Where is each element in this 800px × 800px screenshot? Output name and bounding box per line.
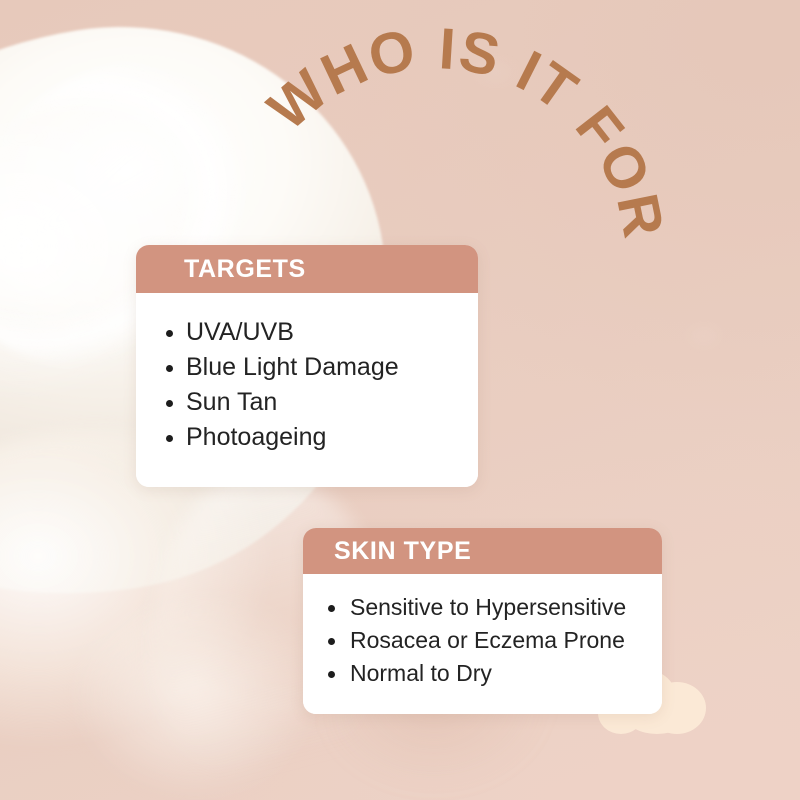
list-item: Rosacea or Eczema Prone bbox=[303, 624, 662, 657]
bullet-dot-icon bbox=[328, 671, 335, 678]
bullet-dot-icon bbox=[166, 400, 173, 407]
targets-list: UVA/UVB Blue Light Damage Sun Tan Photoa… bbox=[136, 315, 478, 455]
card-skin-type-title: SKIN TYPE bbox=[303, 528, 662, 574]
list-item: Blue Light Damage bbox=[136, 350, 478, 385]
bullet-dot-icon bbox=[166, 330, 173, 337]
card-targets-body: UVA/UVB Blue Light Damage Sun Tan Photoa… bbox=[136, 293, 478, 487]
list-item-label: UVA/UVB bbox=[186, 318, 294, 346]
bullet-dot-icon bbox=[166, 365, 173, 372]
list-item: Sensitive to Hypersensitive bbox=[303, 591, 662, 624]
card-targets-title: TARGETS bbox=[136, 245, 478, 293]
list-item: UVA/UVB bbox=[136, 315, 478, 350]
list-item-label: Rosacea or Eczema Prone bbox=[350, 627, 625, 653]
card-skin-type: SKIN TYPE Sensitive to Hypersensitive Ro… bbox=[303, 528, 662, 714]
card-skin-type-body: Sensitive to Hypersensitive Rosacea or E… bbox=[303, 574, 662, 714]
list-item: Photoageing bbox=[136, 420, 478, 455]
list-item: Normal to Dry bbox=[303, 657, 662, 690]
list-item-label: Sensitive to Hypersensitive bbox=[350, 594, 626, 620]
list-item-label: Photoageing bbox=[186, 423, 326, 451]
list-item-label: Sun Tan bbox=[186, 388, 277, 416]
skin-type-list: Sensitive to Hypersensitive Rosacea or E… bbox=[303, 591, 662, 690]
bullet-dot-icon bbox=[328, 605, 335, 612]
list-item-label: Normal to Dry bbox=[350, 660, 492, 686]
bullet-dot-icon bbox=[166, 435, 173, 442]
card-targets: TARGETS UVA/UVB Blue Light Damage Sun Ta… bbox=[136, 245, 478, 487]
bullet-dot-icon bbox=[328, 638, 335, 645]
list-item: Sun Tan bbox=[136, 385, 478, 420]
list-item-label: Blue Light Damage bbox=[186, 353, 399, 381]
